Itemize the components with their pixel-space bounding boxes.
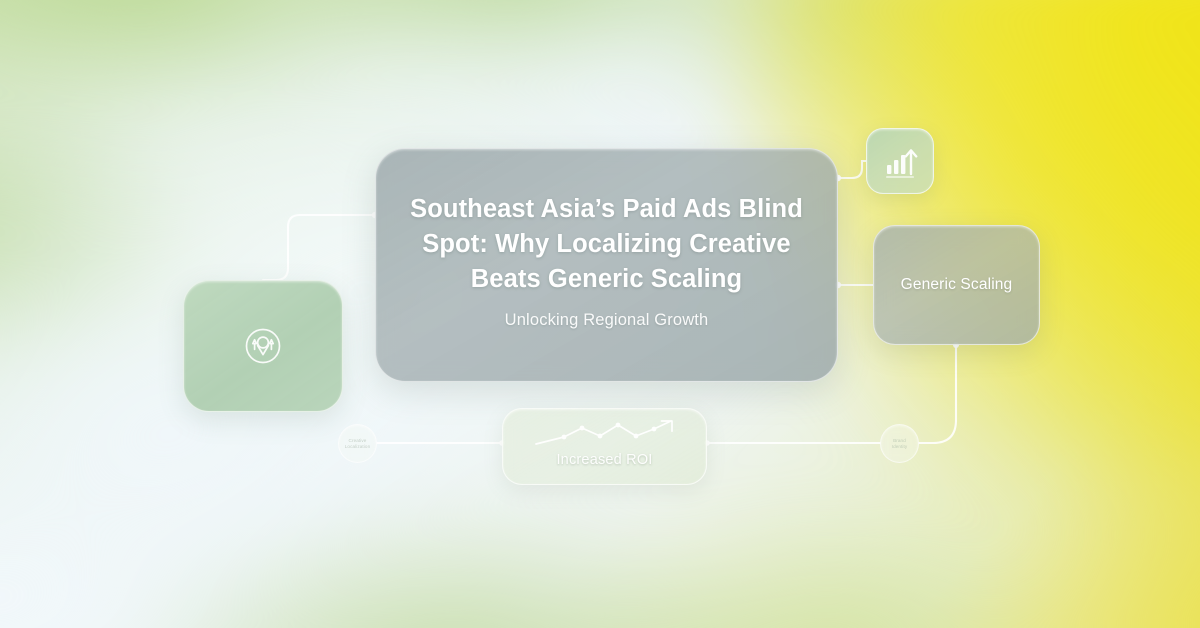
connector-hero-to-growth: [838, 161, 866, 178]
hero-title-card: Southeast Asia’s Paid Ads Blind Spot: Wh…: [375, 148, 838, 382]
diagram-container: Southeast Asia’s Paid Ads Blind Spot: Wh…: [0, 0, 1200, 628]
page-subtitle: Unlocking Regional Growth: [505, 311, 709, 330]
region-localization-card[interactable]: [183, 280, 343, 412]
line-chart-up-arrow-icon: [530, 417, 680, 451]
bar-chart-growth-arrow-icon: [880, 141, 920, 181]
mini-node-right-label-line1: Brand: [893, 438, 906, 443]
region-location-pin-icon: [238, 321, 288, 371]
mini-node-left-label-line1: Creative: [349, 438, 367, 443]
connector-scaling-to-node-right: [919, 345, 956, 443]
mini-node-left-label: Creative Localization: [343, 438, 372, 449]
generic-scaling-card[interactable]: Generic Scaling: [873, 225, 1040, 345]
increased-roi-card[interactable]: Increased ROI: [502, 408, 707, 485]
mini-node-creative-localization[interactable]: Creative Localization: [338, 424, 377, 463]
mini-node-left-label-line2: Localization: [345, 444, 370, 449]
increased-roi-label: Increased ROI: [556, 452, 652, 468]
growth-metrics-tile[interactable]: [866, 128, 934, 194]
connector-hero-to-region: [263, 215, 375, 280]
mini-node-brand-identity[interactable]: Brand Identity: [880, 424, 919, 463]
infographic-canvas: Southeast Asia’s Paid Ads Blind Spot: Wh…: [0, 0, 1200, 628]
mini-node-right-label-line2: Identity: [892, 444, 908, 449]
generic-scaling-label: Generic Scaling: [901, 276, 1013, 294]
page-title: Southeast Asia’s Paid Ads Blind Spot: Wh…: [402, 192, 811, 296]
mini-node-right-label: Brand Identity: [890, 438, 910, 449]
